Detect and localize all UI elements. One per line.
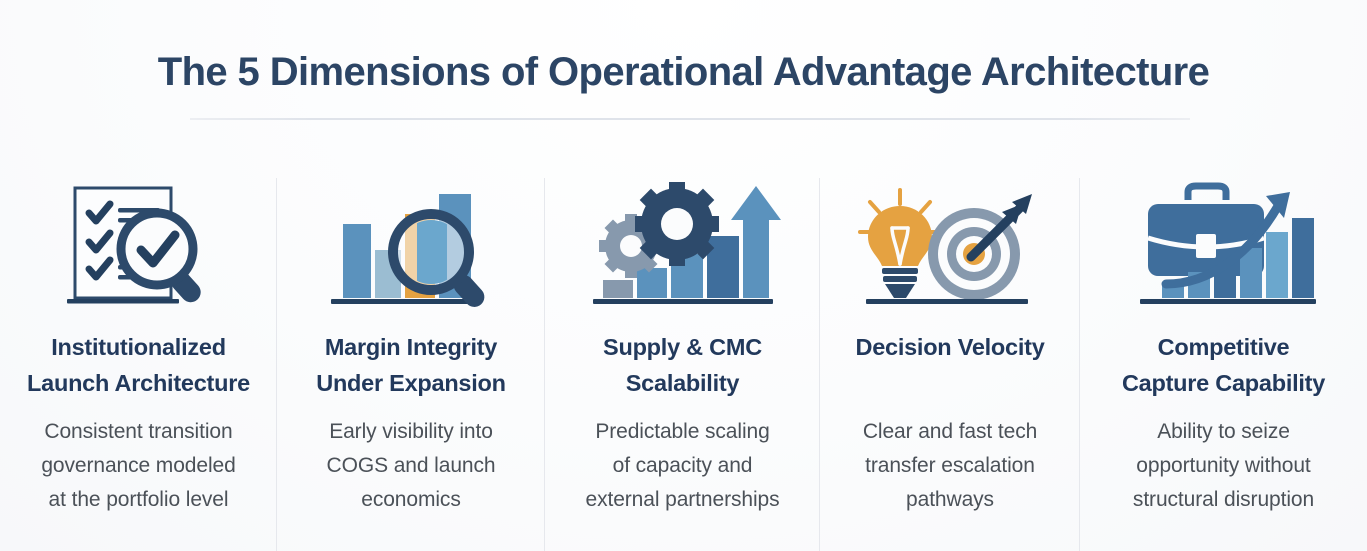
- card-description-line: Early visibility into: [329, 420, 493, 443]
- card-description-line: governance modeled: [41, 454, 235, 477]
- card-description-line: Consistent transition: [44, 420, 232, 443]
- dimension-card-institutionalized-launch-architecture[interactable]: Institutionalized Launch Architecture Co…: [0, 150, 277, 551]
- infographic-canvas: The 5 Dimensions of Operational Advantag…: [0, 0, 1367, 551]
- card-title: Decision Velocity: [827, 330, 1073, 401]
- card-title: Institutionalized Launch Architecture: [19, 330, 259, 401]
- dimension-card-margin-integrity-under-expansion[interactable]: Margin Integrity Under Expansion Early v…: [277, 150, 545, 551]
- card-title-line: Competitive: [1158, 334, 1290, 360]
- card-description-line: COGS and launch: [327, 454, 496, 477]
- card-description-line: of capacity and: [613, 454, 753, 477]
- card-title-line: Capture Capability: [1122, 370, 1325, 396]
- card-title-line: Supply & CMC: [603, 334, 762, 360]
- card-description: Predictable scaling of capacity and exte…: [555, 415, 811, 517]
- card-title-line: Margin Integrity: [325, 334, 497, 360]
- card-title: Competitive Capture Capability: [1093, 330, 1355, 401]
- card-description: Consistent transition governance modeled…: [19, 415, 259, 517]
- briefcase-growth-arrow-icon: [1124, 178, 1324, 318]
- card-description-line: at the portfolio level: [49, 488, 229, 511]
- card-description: Early visibility into COGS and launch ec…: [291, 415, 531, 517]
- page-title: The 5 Dimensions of Operational Advantag…: [0, 50, 1367, 95]
- title-divider: [190, 118, 1190, 120]
- card-description-line: opportunity without: [1136, 454, 1310, 477]
- checklist-magnifier-icon: [39, 178, 239, 318]
- card-description-line: economics: [361, 488, 460, 511]
- card-description-line: external partnerships: [585, 488, 779, 511]
- dimension-card-row: Institutionalized Launch Architecture Co…: [0, 150, 1367, 551]
- gears-growth-arrow-icon: [583, 178, 783, 318]
- dimension-card-supply-and-cmc-scalability[interactable]: Supply & CMC Scalability Predictable sca…: [545, 150, 820, 551]
- bar-chart-magnifier-icon: [311, 178, 511, 318]
- card-description-line: transfer escalation: [865, 454, 1035, 477]
- card-description-line: Predictable scaling: [595, 420, 769, 443]
- header: The 5 Dimensions of Operational Advantag…: [0, 0, 1367, 150]
- card-title: Margin Integrity Under Expansion: [291, 330, 531, 401]
- card-title-line: Under Expansion: [316, 370, 506, 396]
- card-title-line: Institutionalized: [51, 334, 226, 360]
- card-description-line: pathways: [906, 488, 994, 511]
- card-title-line: Scalability: [626, 370, 740, 396]
- card-description-line: structural disruption: [1133, 488, 1314, 511]
- card-description-line: Ability to seize: [1157, 420, 1290, 443]
- card-description: Clear and fast tech transfer escalation …: [827, 415, 1073, 517]
- dimension-card-decision-velocity[interactable]: Decision Velocity Clear and fast tech tr…: [820, 150, 1080, 551]
- card-title-line: Decision Velocity: [855, 334, 1044, 360]
- card-title: Supply & CMC Scalability: [558, 330, 808, 401]
- card-description: Ability to seize opportunity without str…: [1096, 415, 1352, 517]
- card-description-line: Clear and fast tech: [863, 420, 1037, 443]
- card-title-line: Launch Architecture: [27, 370, 250, 396]
- lightbulb-target-arrow-icon: [850, 178, 1050, 318]
- dimension-card-competitive-capture-capability[interactable]: Competitive Capture Capability Ability t…: [1080, 150, 1367, 551]
